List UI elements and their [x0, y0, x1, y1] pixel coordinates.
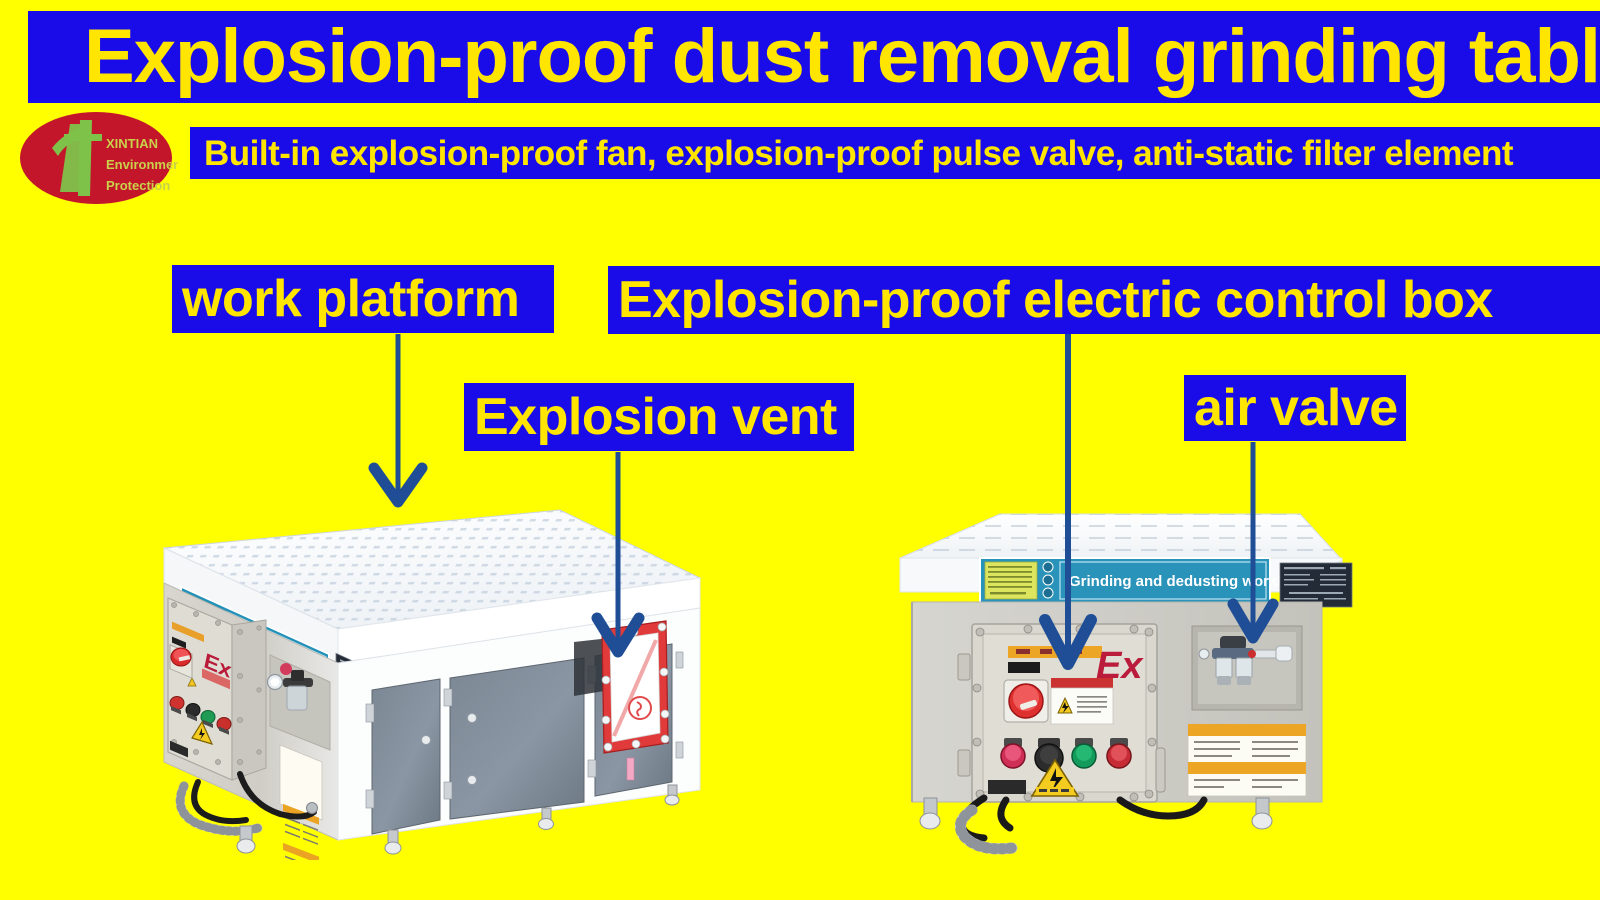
callout-arrows-layer — [0, 0, 1600, 900]
arrow-electric-control-box-icon — [1045, 334, 1091, 664]
arrow-work-platform-icon — [374, 334, 422, 502]
arrow-explosion-vent-icon — [597, 452, 639, 652]
poster-canvas: Explosion-proof dust removal grinding ta… — [0, 0, 1600, 900]
arrow-air-valve-icon — [1233, 442, 1273, 638]
